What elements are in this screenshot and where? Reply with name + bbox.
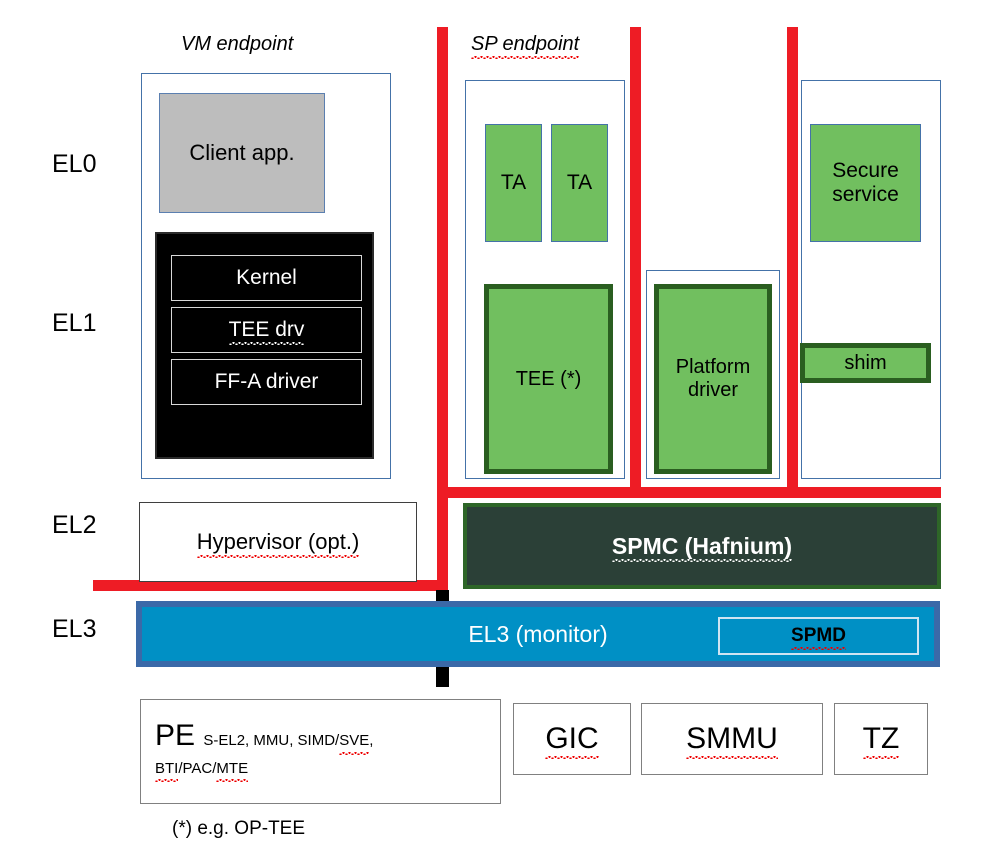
gic-label: GIC (545, 722, 598, 757)
ta-box-2[interactable]: TA (551, 124, 608, 242)
security-boundary-vertical-right (787, 27, 798, 497)
pe-details-line2: BTI/PAC/MTE (155, 760, 248, 777)
el3-monitor-label: EL3 (monitor) (468, 621, 607, 647)
diagram-canvas: VM endpoint SP endpoint EL0 EL1 EL2 EL3 … (0, 0, 997, 858)
os-stack-item-label: TEE drv (229, 318, 305, 342)
os-stack-item-label: Kernel (236, 266, 297, 290)
platform-driver-label: Platform driver (659, 356, 767, 402)
secure-service-label: Secure service (811, 159, 920, 207)
security-boundary-vertical-left (437, 27, 448, 591)
spmd-box[interactable]: SPMD (718, 617, 919, 655)
level-label-el2: EL2 (52, 511, 96, 540)
hypervisor-box[interactable]: Hypervisor (opt.) (139, 502, 417, 582)
pe-sve-term: SVE (339, 730, 369, 752)
platform-driver-box[interactable]: Platform driver (654, 284, 772, 474)
client-app-box[interactable]: Client app. (159, 93, 325, 213)
spmc-box[interactable]: SPMC (Hafnium) (463, 503, 941, 589)
hardware-box-smmu[interactable]: SMMU (641, 703, 823, 775)
security-boundary-horizontal-upper (437, 487, 941, 498)
vm-endpoint-caption: VM endpoint (181, 33, 293, 56)
ta-box-1[interactable]: TA (485, 124, 542, 242)
sp-endpoint-caption: SP endpoint (471, 33, 579, 56)
pe-details-line1: S-EL2, MMU, SIMD/SVE, (199, 732, 373, 749)
hardware-box-gic[interactable]: GIC (513, 703, 631, 775)
sp-endpoint-caption-text: SP endpoint (471, 33, 579, 56)
pe-bti-term: BTI (155, 758, 178, 780)
ta-label: TA (501, 171, 526, 195)
os-stack-item-tee-drv[interactable]: TEE drv (171, 307, 362, 353)
ta-label: TA (567, 171, 592, 195)
smmu-label: SMMU (686, 722, 778, 757)
os-stack-item-kernel[interactable]: Kernel (171, 255, 362, 301)
tz-label: TZ (863, 722, 900, 757)
pe-mte-term: MTE (216, 758, 248, 780)
pe-name: PE (155, 719, 195, 752)
level-label-el0: EL0 (52, 150, 96, 179)
shim-box[interactable]: shim (800, 343, 931, 383)
level-label-el1: EL1 (52, 309, 96, 338)
tee-label: TEE (*) (516, 368, 582, 391)
os-stack-item-ffa-driver[interactable]: FF-A driver (171, 359, 362, 405)
hardware-box-pe[interactable]: PE S-EL2, MMU, SIMD/SVE, BTI/PAC/MTE (140, 699, 501, 804)
spmc-label: SPMC (Hafnium) (612, 533, 792, 559)
client-app-label: Client app. (189, 140, 294, 165)
os-stack-item-label: FF-A driver (215, 370, 319, 394)
guest-os-stack: Kernel TEE drv FF-A driver (155, 232, 374, 459)
pe-description: PE S-EL2, MMU, SIMD/SVE, BTI/PAC/MTE (141, 700, 500, 779)
spmd-label: SPMD (791, 625, 846, 647)
shim-label: shim (844, 352, 886, 375)
level-label-el3: EL3 (52, 615, 96, 644)
tee-box[interactable]: TEE (*) (484, 284, 613, 474)
hardware-box-tz[interactable]: TZ (834, 703, 928, 775)
secure-service-box[interactable]: Secure service (810, 124, 921, 242)
connector-square-bottom (436, 665, 449, 687)
security-boundary-vertical-middle (630, 27, 641, 497)
hypervisor-label: Hypervisor (opt.) (197, 529, 360, 554)
footnote-text: (*) e.g. OP-TEE (172, 818, 305, 840)
